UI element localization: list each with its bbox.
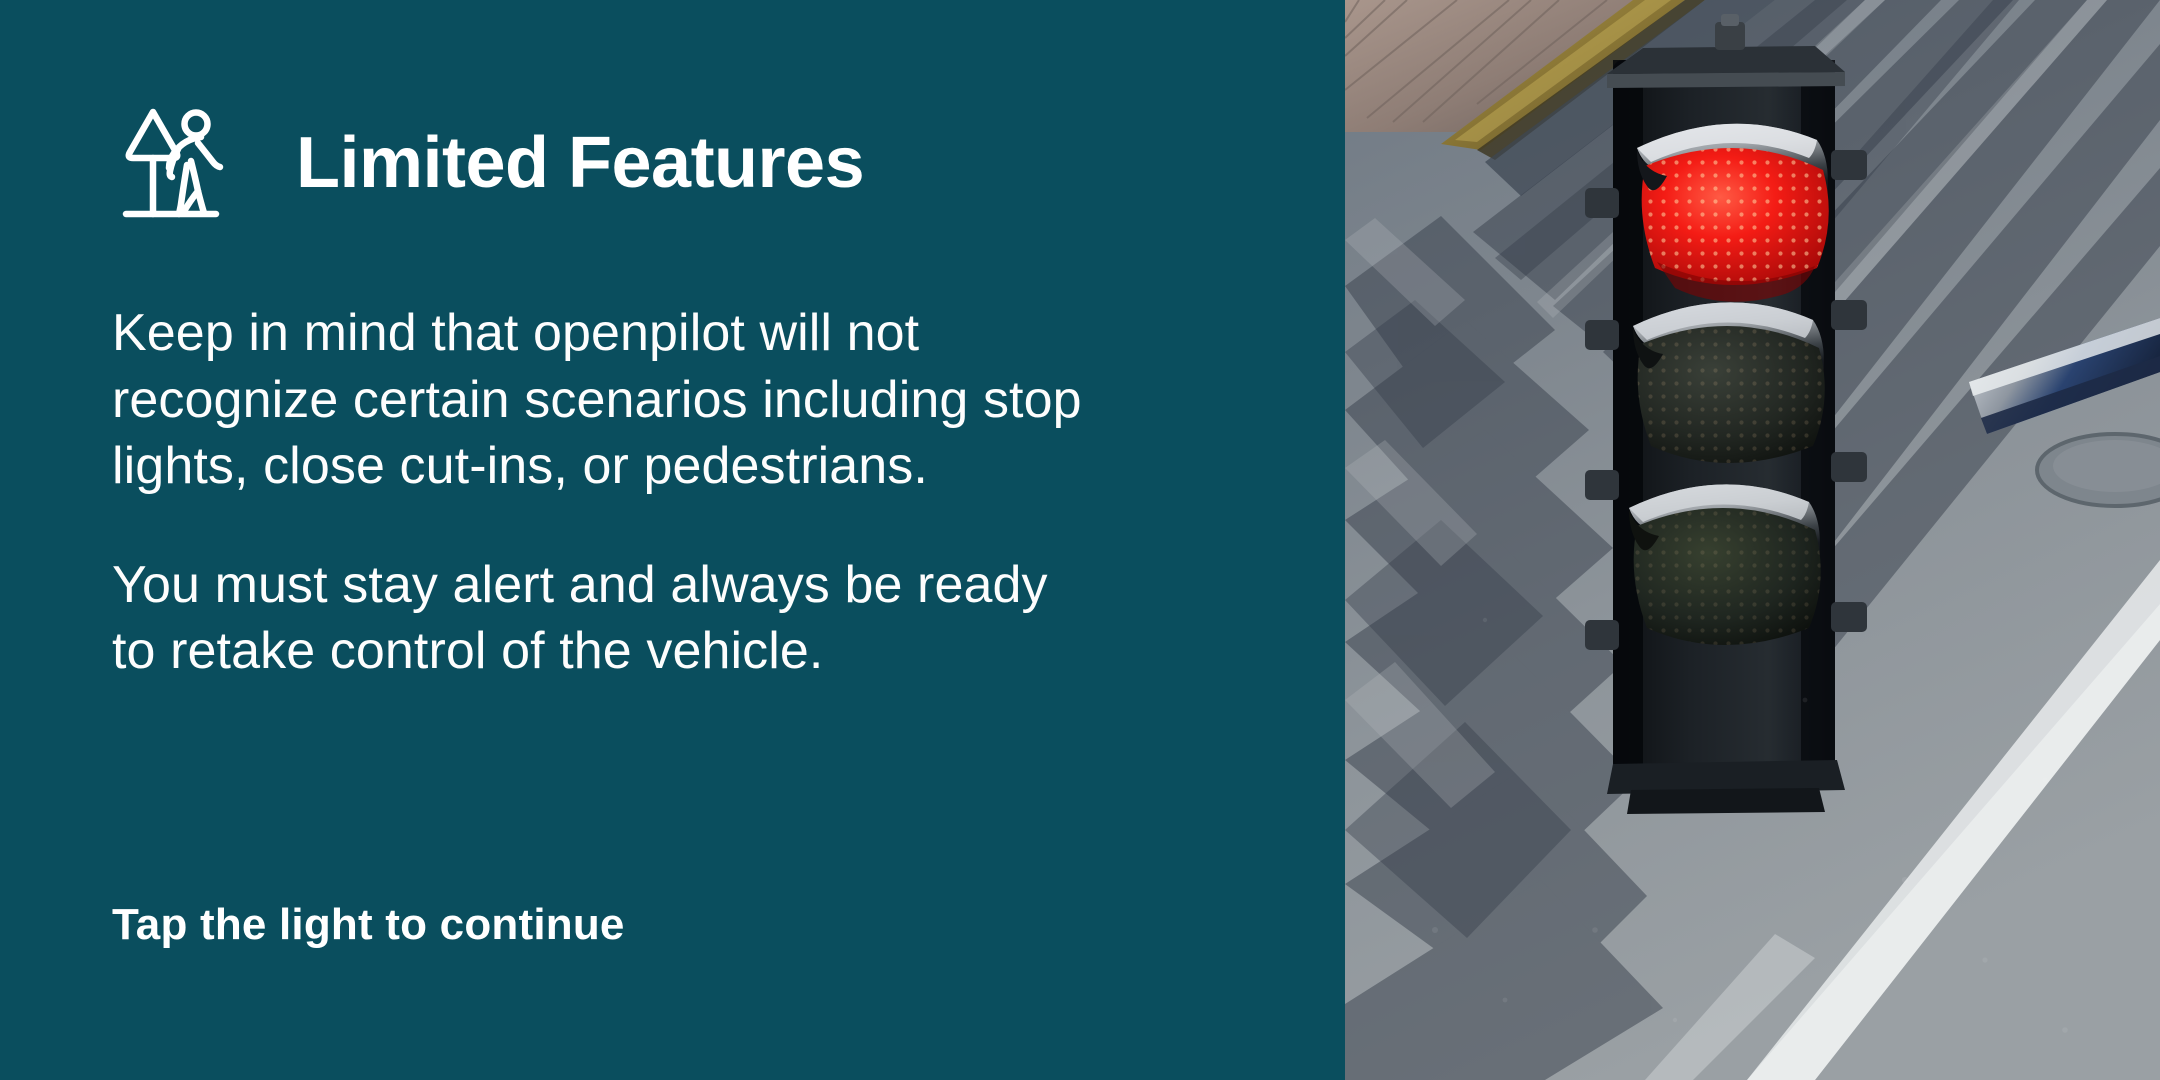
body-copy: Keep in mind that openpilot will not rec…	[112, 300, 1292, 685]
housing-cap-edge	[1607, 72, 1845, 88]
amber-lamp-leds	[1638, 326, 1825, 463]
tap-hint-label: Tap the light to continue	[112, 900, 625, 950]
paragraph-line: to retake control of the vehicle.	[112, 618, 1292, 685]
top-sensor-cap	[1721, 14, 1739, 26]
paragraph-warning: Keep in mind that openpilot will not rec…	[112, 300, 1292, 500]
traffic-light-assembly[interactable]	[1585, 14, 1867, 814]
traffic-light-photo-canvas[interactable]	[1345, 0, 2160, 1080]
paragraph-line: You must stay alert and always be ready	[112, 552, 1292, 619]
paragraph-line: lights, close cut-ins, or pedestrians.	[112, 433, 1292, 500]
header-row: Limited Features	[112, 104, 864, 222]
red-lamp-leds	[1642, 148, 1829, 285]
limited-features-screen: Limited Features Keep in mind that openp…	[0, 0, 2160, 1080]
traffic-light-photo[interactable]	[1345, 0, 2160, 1080]
green-lamp[interactable]	[1629, 484, 1821, 645]
housing-base-lower	[1627, 788, 1825, 814]
housing-left-shade	[1613, 60, 1643, 772]
paragraph-alert: You must stay alert and always be ready …	[112, 552, 1292, 685]
paragraph-line: Keep in mind that openpilot will not	[112, 300, 1292, 367]
info-panel: Limited Features Keep in mind that openp…	[0, 0, 1345, 1080]
paragraph-line: recognize certain scenarios including st…	[112, 367, 1292, 434]
green-lamp-leds	[1634, 508, 1821, 645]
pedestrian-crossing-sign-icon	[112, 95, 252, 235]
amber-lamp[interactable]	[1633, 302, 1825, 463]
page-title: Limited Features	[296, 127, 864, 199]
top-sensor	[1715, 22, 1745, 50]
housing-top-cap	[1607, 46, 1845, 74]
